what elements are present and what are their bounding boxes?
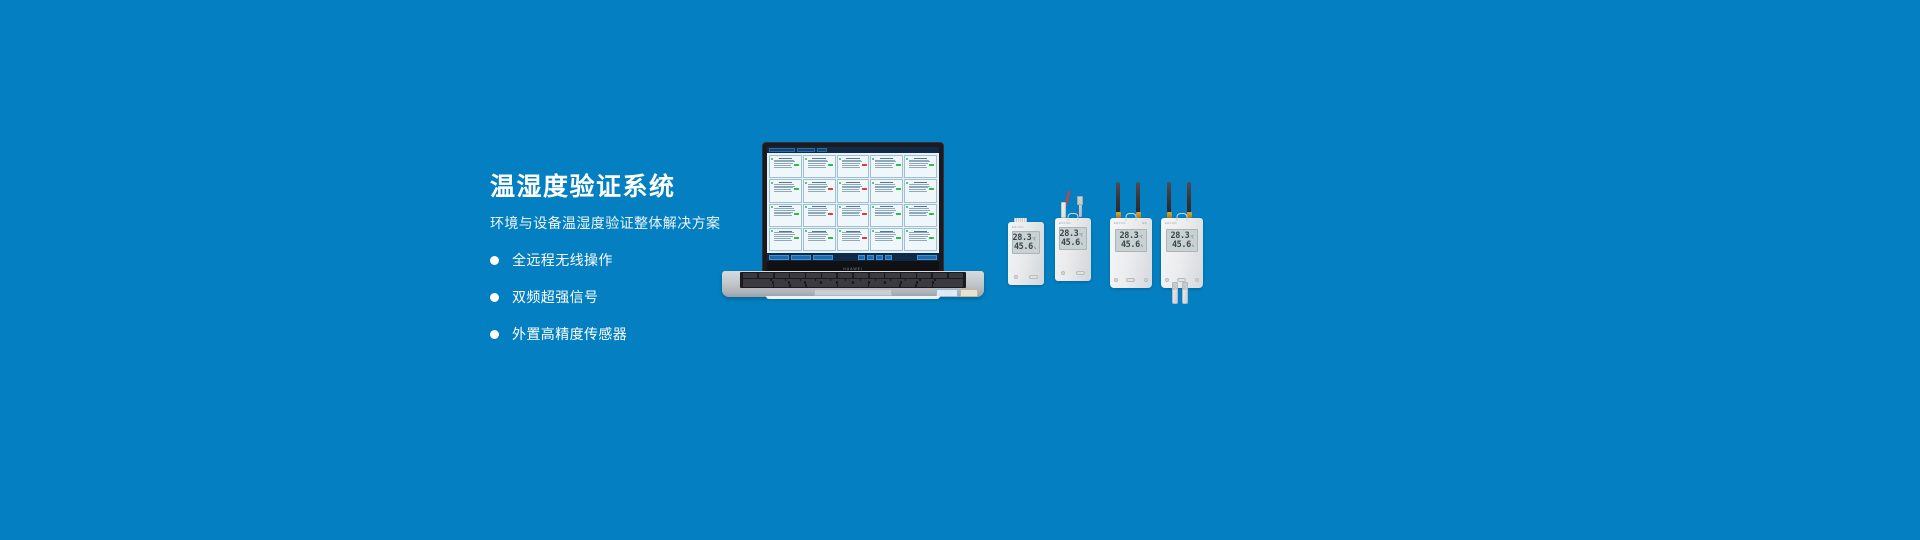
device-body: ENCON 28.3 ℃ 45.6 %: [1161, 218, 1203, 288]
sensor-card[interactable]: [803, 228, 836, 251]
humidity-unit: %: [1141, 245, 1143, 249]
status-led-icon: [872, 230, 874, 232]
device-brand-label: ENCON: [1165, 222, 1177, 225]
data-logger-probe: ENCON 28.3 ℃ 45.6 %: [1055, 218, 1091, 281]
humidity-reading: 45.6 %: [1014, 243, 1036, 252]
humidity-reading: 45.6 %: [1172, 241, 1194, 250]
sensor-card[interactable]: [870, 204, 903, 227]
status-badge: [862, 164, 867, 166]
sensor-card[interactable]: [803, 204, 836, 227]
humidity-reading: 45.6 %: [1061, 239, 1083, 248]
external-sensor-probe: [1172, 282, 1178, 304]
base-front-lip: [766, 296, 940, 299]
device-function-button[interactable]: [1126, 278, 1135, 283]
device-function-button[interactable]: [1076, 271, 1085, 276]
app-tab[interactable]: [797, 148, 815, 152]
status-badge: [862, 237, 867, 239]
brand-label: HUAWEI: [843, 267, 863, 271]
laptop-base: [722, 271, 984, 297]
sensor-card[interactable]: [803, 179, 836, 202]
status-led-icon: [805, 158, 807, 160]
status-led-icon: [771, 206, 773, 208]
lcd-display: 28.3 ℃ 45.6 %: [1115, 229, 1147, 252]
status-led-icon: [872, 182, 874, 184]
sensor-card[interactable]: [904, 179, 937, 202]
laptop-lid: HUAWEI: [762, 142, 944, 276]
toolbar-action-button[interactable]: [791, 255, 811, 260]
app-toolbar: [767, 253, 939, 261]
list-item: 外置高精度传感器: [490, 324, 850, 344]
hanger-loop-icon: [1068, 213, 1079, 221]
device-brand-label: ENCON: [1059, 222, 1071, 225]
sensor-card[interactable]: [837, 155, 870, 178]
data-logger-basic: ENCON 28.3 ℃ 45.6 %: [1008, 222, 1044, 285]
humidity-unit: %: [1192, 245, 1194, 249]
status-badge: [896, 188, 901, 190]
sensor-card[interactable]: [904, 228, 937, 251]
status-badge: [929, 164, 934, 166]
device-body: ENCON 28.3 ℃ 45.6 %: [1055, 218, 1091, 281]
device-brand-label: ENCON: [1114, 222, 1126, 225]
device-led-indicator: [1165, 278, 1169, 282]
humidity-value: 45.6: [1172, 241, 1191, 250]
external-sensor-probe: [1182, 282, 1188, 304]
status-led-icon: [805, 206, 807, 208]
device-led-indicator: [1114, 278, 1118, 282]
device-led-indicator: [1144, 278, 1148, 282]
feature-label: 外置高精度传感器: [512, 324, 627, 344]
sensor-card[interactable]: [803, 155, 836, 178]
status-badge: [929, 237, 934, 239]
sensor-card-grid: [767, 153, 939, 253]
status-badge: [828, 164, 833, 166]
status-led-icon: [771, 182, 773, 184]
status-led-icon: [872, 206, 874, 208]
laptop-product-image: HUAWEI: [722, 142, 984, 297]
device-button-row: [1055, 271, 1091, 276]
status-led-icon: [839, 182, 841, 184]
bullet-dot-icon: [490, 256, 499, 265]
sensor-mesh-cap-icon: [1173, 283, 1177, 290]
status-badge: [828, 188, 833, 190]
status-badge: [896, 164, 901, 166]
toolbar-action-button[interactable]: [813, 255, 833, 260]
status-led-icon: [906, 206, 908, 208]
data-logger-wireless-b: ENCON 28.3 ℃ 45.6 %: [1161, 218, 1203, 288]
vent-grille-icon: [1014, 218, 1027, 222]
feature-label: 全远程无线操作: [512, 250, 613, 270]
status-badge: [896, 213, 901, 215]
antenna-icon: [1187, 182, 1191, 214]
status-led-icon: [839, 230, 841, 232]
status-badge: [794, 188, 799, 190]
external-sensor-pair: [1172, 282, 1188, 304]
status-badge: [794, 164, 799, 166]
antenna-icon: [1136, 182, 1140, 214]
lcd-display: 28.3 ℃ 45.6 %: [1012, 231, 1040, 254]
humidity-unit: %: [1034, 247, 1036, 251]
bullet-dot-icon: [490, 293, 499, 302]
status-led-icon: [839, 158, 841, 160]
hanger-loop-icon: [1177, 213, 1188, 221]
toolbar-end-button[interactable]: [917, 255, 937, 260]
antenna-icon: [1167, 182, 1171, 214]
device-button-row: [1110, 278, 1152, 283]
humidity-unit: %: [1081, 243, 1083, 247]
pager-button[interactable]: [885, 255, 892, 260]
status-badge: [794, 213, 799, 215]
status-badge: [794, 237, 799, 239]
device-led-indicator: [1014, 275, 1018, 279]
device-function-button[interactable]: [1029, 275, 1038, 280]
sensor-card[interactable]: [870, 179, 903, 202]
sensor-card[interactable]: [870, 228, 903, 251]
pager-button[interactable]: [876, 255, 883, 260]
device-button-row: [1008, 275, 1044, 280]
probe-connector: [1061, 202, 1066, 218]
sensor-card[interactable]: [870, 155, 903, 178]
status-badge: [862, 188, 867, 190]
status-led-icon: [872, 158, 874, 160]
status-led-icon: [839, 206, 841, 208]
toolbar-action-button[interactable]: [769, 255, 789, 260]
pager-button[interactable]: [858, 255, 865, 260]
humidity-value: 45.6: [1014, 243, 1033, 252]
humidity-value: 45.6: [1121, 241, 1140, 250]
app-tab[interactable]: [817, 148, 827, 152]
pager-button[interactable]: [867, 255, 874, 260]
status-led-icon: [805, 182, 807, 184]
device-body: ENCON 28.3 ℃ 45.6 %: [1008, 222, 1044, 285]
sensor-card[interactable]: [837, 228, 870, 251]
probe-stem: [1079, 205, 1082, 217]
status-badge: [929, 188, 934, 190]
data-logger-wireless-a: ENCON MB 28.3 ℃ 45.6 %: [1110, 218, 1152, 288]
sensor-card[interactable]: [769, 179, 802, 202]
feature-label: 双频超强信号: [512, 287, 598, 307]
status-led-icon: [771, 158, 773, 160]
lcd-display: 28.3 ℃ 45.6 %: [1166, 229, 1198, 252]
hanger-loop-icon: [1126, 213, 1137, 221]
sensor-card[interactable]: [769, 204, 802, 227]
status-led-icon: [906, 158, 908, 160]
status-badge: [828, 237, 833, 239]
sensor-card[interactable]: [904, 155, 937, 178]
humidity-reading: 45.6 %: [1121, 241, 1143, 250]
sensor-card[interactable]: [837, 179, 870, 202]
status-led-icon: [805, 230, 807, 232]
status-badge: [896, 237, 901, 239]
keyboard[interactable]: [740, 272, 966, 288]
status-led-icon: [906, 230, 908, 232]
sensor-mesh-cap-icon: [1183, 283, 1187, 290]
lcd-display: 28.3 ℃ 45.6 %: [1059, 227, 1087, 250]
device-led-indicator: [1061, 271, 1065, 275]
status-led-icon: [906, 182, 908, 184]
product-banner: 温湿度验证系统 环境与设备温湿度验证整体解决方案 全远程无线操作 双频超强信号 …: [0, 0, 1920, 540]
status-badge: [929, 213, 934, 215]
humidity-value: 45.6: [1061, 239, 1080, 248]
trackpad[interactable]: [814, 289, 892, 296]
status-badge: [828, 213, 833, 215]
sensor-card[interactable]: [904, 204, 937, 227]
device-brand-label: ENCON: [1012, 226, 1024, 229]
probe-sensor-mesh-icon: [1077, 196, 1083, 205]
app-tab[interactable]: [769, 148, 795, 152]
device-model-label: MB: [1142, 222, 1147, 225]
sensor-card[interactable]: [837, 204, 870, 227]
device-led-indicator: [1195, 278, 1199, 282]
bullet-dot-icon: [490, 330, 499, 339]
sensor-card[interactable]: [769, 228, 802, 251]
device-body: ENCON MB 28.3 ℃ 45.6 %: [1110, 218, 1152, 288]
certification-sticker: [960, 289, 978, 297]
laptop-screen: [767, 147, 939, 261]
status-badge: [862, 213, 867, 215]
sensor-card[interactable]: [769, 155, 802, 178]
status-led-icon: [771, 230, 773, 232]
antenna-icon: [1116, 182, 1120, 214]
